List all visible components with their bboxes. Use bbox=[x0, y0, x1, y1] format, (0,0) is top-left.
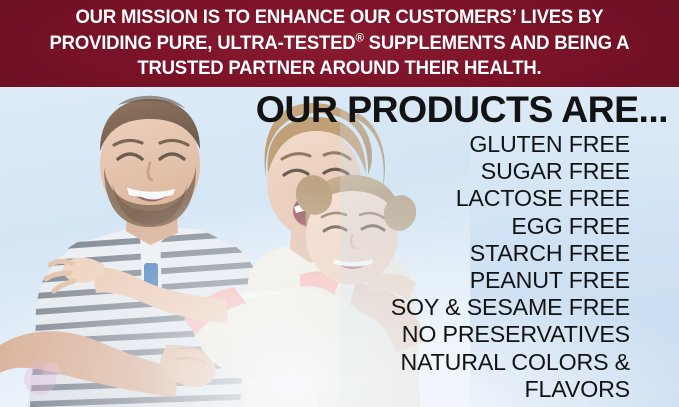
list-item: FLAVORS bbox=[391, 376, 630, 403]
mission-line-2-part-a: PROVIDING PURE, ULTRA-TESTED bbox=[50, 33, 356, 54]
list-item: SOY & SESAME FREE bbox=[391, 294, 630, 321]
registered-trademark-icon: ® bbox=[356, 30, 364, 44]
list-item: NATURAL COLORS & bbox=[391, 349, 630, 376]
free-from-list: GLUTEN FREE SUGAR FREE LACTOSE FREE EGG … bbox=[391, 131, 630, 403]
list-item: LACTOSE FREE bbox=[391, 185, 630, 212]
list-item: GLUTEN FREE bbox=[391, 131, 630, 158]
mission-statement-banner: OUR MISSION IS TO ENHANCE OUR CUSTOMERS’… bbox=[0, 0, 679, 87]
mission-line-3: TRUSTED PARTNER AROUND THEIR HEALTH. bbox=[137, 58, 541, 79]
mission-line-2-part-b: SUPPLEMENTS AND BEING A bbox=[364, 33, 630, 54]
list-item: SUGAR FREE bbox=[391, 158, 630, 185]
list-item: PEANUT FREE bbox=[391, 267, 630, 294]
content-area: OUR PRODUCTS ARE... GLUTEN FREE SUGAR FR… bbox=[0, 87, 679, 407]
promo-banner: OUR MISSION IS TO ENHANCE OUR CUSTOMERS’… bbox=[0, 0, 679, 407]
mission-statement-text: OUR MISSION IS TO ENHANCE OUR CUSTOMERS’… bbox=[42, 5, 637, 82]
products-heading: OUR PRODUCTS ARE... bbox=[256, 88, 668, 130]
list-item: NO PRESERVATIVES bbox=[391, 321, 630, 348]
mission-line-1: OUR MISSION IS TO ENHANCE OUR CUSTOMERS’… bbox=[76, 7, 604, 28]
list-item: EGG FREE bbox=[391, 213, 630, 240]
list-item: STARCH FREE bbox=[391, 240, 630, 267]
